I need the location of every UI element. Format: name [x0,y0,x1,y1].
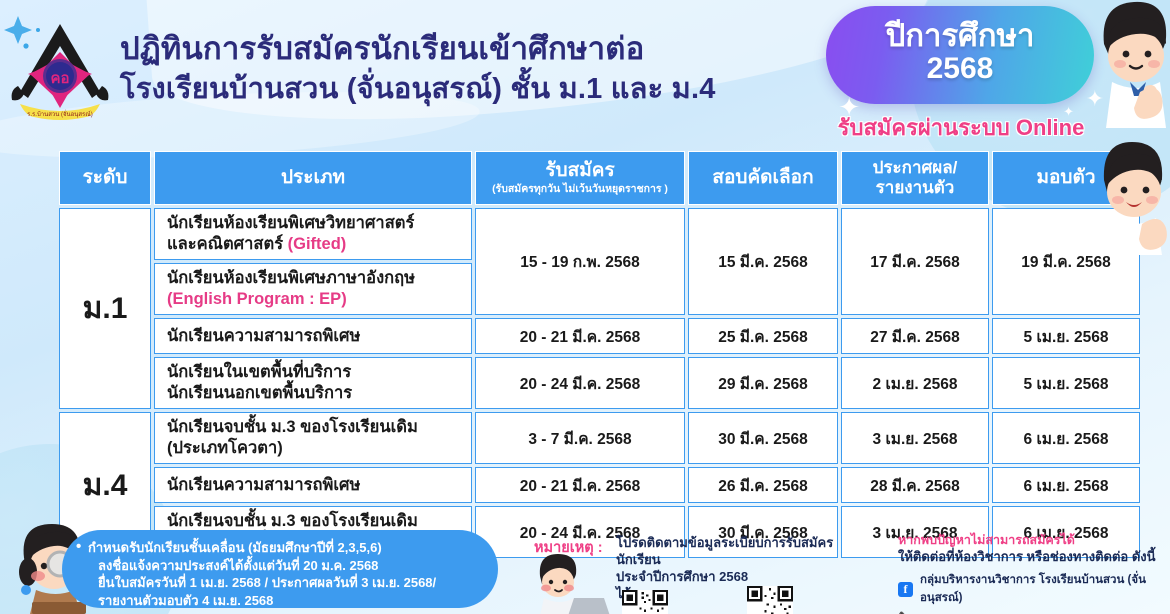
table-body: ม.1 นักเรียนห้องเรียนพิเศษวิทยาศาสตร์ แล… [59,208,1140,558]
table-row: นักเรียนความสามารถพิเศษ 20 - 21 มี.ค. 25… [59,318,1140,354]
remark-line-1: โปรดติดตามข้อมูลระเบียบการรับสมัครนักเรี… [616,534,864,568]
apply-date-cell: 20 - 24 มี.ค. 2568 [475,357,685,409]
type-cell: นักเรียนห้องเรียนพิเศษภาษาอังกฤษ (Englis… [154,263,472,315]
type-line-2: และคณิตศาสตร์ [167,235,288,253]
table-row: นักเรียนความสามารถพิเศษ 20 - 21 มี.ค. 25… [59,467,1140,503]
type-line-1: นักเรียนจบชั้น ม.3 ของโรงเรียนเดิม [167,418,418,436]
announce-date-cell: 2 เม.ย. 2568 [841,357,989,409]
report-date-cell: 5 เม.ย. 2568 [992,357,1140,409]
note-line-3: ยื่นใบสมัครวันที่ 1 เม.ย. 2568 / ประกาศผ… [88,574,484,592]
contact-subtitle: ให้ติดต่อที่ห้องวิชาการ หรือช่องทางติดต่… [898,548,1170,566]
type-line-1: นักเรียนความสามารถพิเศษ [167,476,360,494]
table-row: ม.1 นักเรียนห้องเรียนพิเศษวิทยาศาสตร์ แล… [59,208,1140,260]
exam-date-cell: 26 มี.ค. 2568 [688,467,838,503]
academic-year-value: 2568 [826,53,1094,85]
type-line-1: นักเรียนห้องเรียนพิเศษวิทยาศาสตร์ [167,214,414,232]
col-header-announce: ประกาศผล/ รายงานตัว [841,151,989,205]
svg-text:ร.ร.บ้านสวน (จั่นอนุสรณ์): ร.ร.บ้านสวน (จั่นอนุสรณ์) [27,110,93,118]
type-line-1: นักเรียนในเขตพื้นที่บริการ [167,363,351,381]
apply-date-cell: 15 - 19 ก.พ. 2568 [475,208,685,315]
contact-alert: หากพบปัญหาไม่สามารถสมัครได้ [898,532,1170,548]
school-crest-logo: คอ ร.ร.บ้านสวน (จั่นอนุสรณ์) [4,12,116,132]
type-cell: นักเรียนความสามารถพิเศษ [154,318,472,354]
exam-date-cell: 15 มี.ค. 2568 [688,208,838,315]
type-accent: (Gifted) [288,235,347,253]
online-application-note: รับสมัครผ่านระบบ Online [796,110,1126,145]
announce-date-cell: 28 มี.ค. 2568 [841,467,989,503]
qr-code-facebook[interactable] [747,586,793,614]
type-cell: นักเรียนความสามารถพิเศษ [154,467,472,503]
col-header-level: ระดับ [59,151,151,205]
facebook-icon: f [898,582,913,597]
apply-date-cell: 3 - 7 มี.ค. 2568 [475,412,685,464]
exam-date-cell: 29 มี.ค. 2568 [688,357,838,409]
poster-footer: กำหนดรับนักเรียนชั้นเคลื่อน (มัธยมศึกษาป… [0,522,1170,614]
level-cell-m1: ม.1 [59,208,151,409]
col-header-apply-sub: (รับสมัครทุกวัน ไม่เว้นวันหยุดราชการ ) [476,183,684,196]
col-header-type: ประเภท [154,151,472,205]
qr-codes: 🌐 www.banjan.ac.th [622,586,876,614]
announce-date-cell: 3 เม.ย. 2568 [841,412,989,464]
type-line-1: นักเรียนห้องเรียนพิเศษภาษาอังกฤษ [167,269,415,287]
admission-calendar-table-wrap: ระดับ ประเภท รับสมัคร (รับสมัครทุกวัน ไม… [56,148,1122,561]
moving-student-note-box: กำหนดรับนักเรียนชั้นเคลื่อน (มัธยมศึกษาป… [62,530,498,608]
type-line-2: นักเรียนนอกเขตพื้นบริการ [167,384,352,402]
title-line-2: โรงเรียนบ้านสวน (จั่นอนุสรณ์) ชั้น ม.1 แ… [120,69,810,110]
mascot-boy-thumbsup [1084,0,1170,128]
report-date-cell: 5 เม.ย. 2568 [992,318,1140,354]
note-line-4: รายงานตัวมอบตัว 4 เม.ย. 2568 [88,592,484,610]
apply-date-cell: 20 - 21 มี.ค. 2568 [475,467,685,503]
report-date-cell: 19 มี.ค. 2568 [992,208,1140,315]
report-date-cell: 6 เม.ย. 2568 [992,412,1140,464]
svg-text:คอ: คอ [50,70,69,87]
academic-year-label: ปีการศึกษา [826,6,1094,53]
type-line-2: (ประเภทโควตา) [167,439,283,457]
announce-date-cell: 17 มี.ค. 2568 [841,208,989,315]
exam-date-cell: 30 มี.ค. 2568 [688,412,838,464]
exam-date-cell: 25 มี.ค. 2568 [688,318,838,354]
apply-date-cell: 20 - 21 มี.ค. 2568 [475,318,685,354]
table-row: ม.4 นักเรียนจบชั้น ม.3 ของโรงเรียนเดิม (… [59,412,1140,464]
type-cell: นักเรียนจบชั้น ม.3 ของโรงเรียนเดิม (ประเ… [154,412,472,464]
contact-facebook[interactable]: f กลุ่มบริหารงานวิชาการ โรงเรียนบ้านสวน … [898,571,1170,607]
announce-date-cell: 27 มี.ค. 2568 [841,318,989,354]
type-cell: นักเรียนห้องเรียนพิเศษวิทยาศาสตร์ และคณิ… [154,208,472,260]
note-line-2: ลงชื่อแจ้งความประสงค์ได้ตั้งแต่วันที่ 20… [88,557,484,575]
contact-block: หากพบปัญหาไม่สามารถสมัครได้ ให้ติดต่อที่… [898,532,1170,614]
table-row: นักเรียนในเขตพื้นที่บริการ นักเรียนนอกเข… [59,357,1140,409]
col-header-exam: สอบคัดเลือก [688,151,838,205]
type-cell: นักเรียนในเขตพื้นที่บริการ นักเรียนนอกเข… [154,357,472,409]
col-header-report: มอบตัว [992,151,1140,205]
type-line-1: นักเรียนความสามารถพิเศษ [167,327,360,345]
poster-title: ปฏิทินการรับสมัครนักเรียนเข้าศึกษาต่อ โร… [120,28,810,110]
remark-label: หมายเหตุ : [534,536,603,559]
title-line-1: ปฏิทินการรับสมัครนักเรียนเข้าศึกษาต่อ [120,28,810,69]
col-header-apply: รับสมัคร (รับสมัครทุกวัน ไม่เว้นวันหยุดร… [475,151,685,205]
report-date-cell: 6 เม.ย. 2568 [992,467,1140,503]
contact-facebook-label: กลุ่มบริหารงานวิชาการ โรงเรียนบ้านสวน (จ… [920,571,1170,607]
sparkle-icon: ✦ [1086,86,1104,112]
infographic-poster: คอ ร.ร.บ้านสวน (จั่นอนุสรณ์) ปฏิทินการรั… [0,0,1170,614]
mascot-boy-laptop [518,552,614,614]
academic-year-badge: ปีการศึกษา 2568 [826,6,1094,104]
note-line-1: กำหนดรับนักเรียนชั้นเคลื่อน (มัธยมศึกษาป… [88,539,484,557]
remark-line-2: ประจำปีการศึกษา 2568 [616,568,864,585]
table-header-row: ระดับ ประเภท รับสมัคร (รับสมัครทุกวัน ไม… [59,151,1140,205]
poster-header: คอ ร.ร.บ้านสวน (จั่นอนุสรณ์) ปฏิทินการรั… [0,0,1170,145]
type-accent: (English Program : EP) [167,290,347,308]
admission-calendar-table: ระดับ ประเภท รับสมัคร (รับสมัครทุกวัน ไม… [56,148,1143,561]
remark-block: หมายเหตุ : โปรดติดตามข้อมูลระเบียบการรับ… [534,534,864,602]
qr-code-website[interactable] [622,590,668,614]
